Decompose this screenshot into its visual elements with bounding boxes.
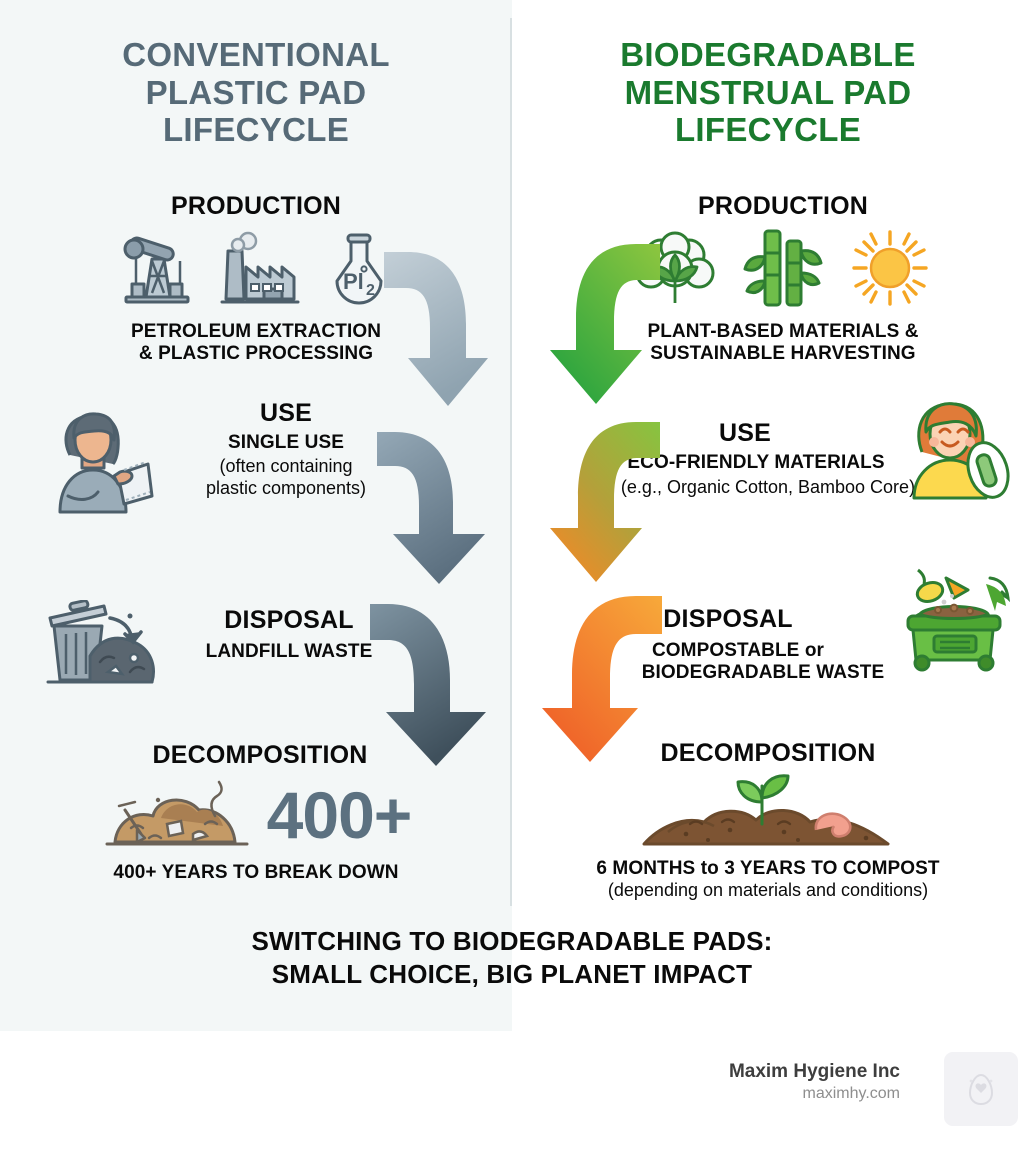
left-decomposition-sub: 400+ YEARS TO BREAK DOWN	[0, 862, 512, 884]
svg-text:2: 2	[366, 282, 375, 299]
compost-bin-icon	[894, 564, 1014, 672]
left-decomposition-big-number: 400+	[267, 782, 412, 848]
factory-icon	[218, 231, 302, 307]
dirt-pile-icon	[101, 776, 251, 854]
right-title-line-2: MENSTRUAL PAD	[512, 74, 1024, 112]
right-decomposition-sub: 6 MONTHS to 3 YEARS TO COMPOST	[512, 858, 1024, 880]
right-production-label: PRODUCTION	[542, 193, 1024, 221]
left-production-label: PRODUCTION	[0, 193, 512, 221]
bamboo-icon	[743, 229, 823, 307]
right-arrow-disposal-to-decomposition	[526, 592, 666, 767]
brand-name: Maxim Hygiene Inc	[729, 1060, 900, 1084]
woman-with-eco-pad-icon	[900, 398, 1012, 500]
sun-icon	[849, 229, 931, 307]
left-arrow-disposal-to-decomposition	[368, 600, 503, 770]
tagline-line-1: SWITCHING TO BIODEGRADABLE PADS:	[0, 925, 1024, 958]
trash-can-icon	[30, 600, 160, 692]
left-title-line-3: LIFECYCLE	[0, 111, 512, 149]
right-title-line-3: LIFECYCLE	[512, 111, 1024, 149]
left-arrow-use-to-disposal	[375, 428, 500, 588]
footer: Maxim Hygiene Inc maximhy.com	[0, 1040, 1024, 1154]
right-decomposition-visual	[512, 772, 1024, 850]
brand-url: maximhy.com	[729, 1084, 900, 1105]
left-column-title: CONVENTIONAL PLASTIC PAD LIFECYCLE	[0, 36, 512, 149]
conventional-lifecycle-column: CONVENTIONAL PLASTIC PAD LIFECYCLE PRODU…	[0, 0, 512, 1031]
bottom-tagline: SWITCHING TO BIODEGRADABLE PADS: SMALL C…	[0, 925, 1024, 992]
right-column-title: BIODEGRADABLE MENSTRUAL PAD LIFECYCLE	[512, 36, 1024, 149]
left-title-line-1: CONVENTIONAL	[0, 36, 512, 74]
right-arrow-production-to-use	[532, 238, 662, 408]
right-decomposition-note: (depending on materials and conditions)	[512, 880, 1024, 902]
left-decomposition-visual: 400+	[0, 776, 512, 854]
sprout-in-soil-icon	[638, 772, 898, 850]
brand-logo[interactable]	[944, 1052, 1018, 1126]
egg-logo-icon	[967, 1072, 995, 1106]
left-arrow-production-to-use	[382, 246, 497, 411]
brand-block: Maxim Hygiene Inc maximhy.com	[729, 1060, 900, 1105]
right-title-line-1: BIODEGRADABLE	[512, 36, 1024, 74]
biodegradable-lifecycle-column: BIODEGRADABLE MENSTRUAL PAD LIFECYCLE PR…	[512, 0, 1024, 1031]
svg-text:Pl: Pl	[343, 269, 364, 294]
oil-pump-icon	[118, 231, 196, 307]
tagline-line-2: SMALL CHOICE, BIG PLANET IMPACT	[0, 958, 1024, 991]
right-arrow-use-to-disposal	[534, 418, 664, 588]
woman-with-pad-icon	[40, 400, 158, 518]
left-title-line-2: PLASTIC PAD	[0, 74, 512, 112]
infographic-root: CONVENTIONAL PLASTIC PAD LIFECYCLE PRODU…	[0, 0, 1024, 1154]
